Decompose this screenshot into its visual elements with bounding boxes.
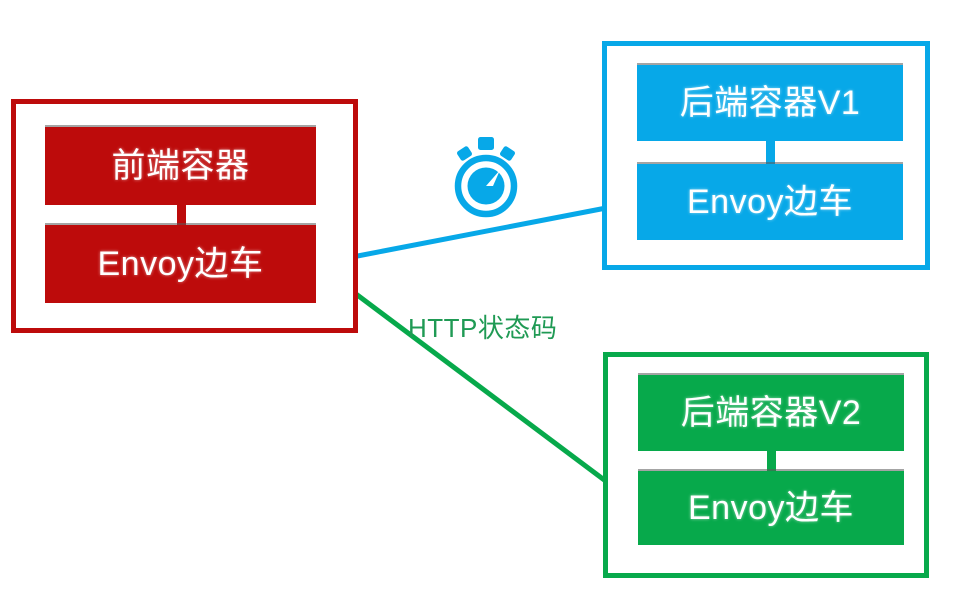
arrow-to-backend-v2 <box>316 264 631 500</box>
backend-envoy-v1-box[interactable]: Envoy边车 <box>637 164 903 240</box>
frontend-envoy-box[interactable]: Envoy边车 <box>45 225 316 303</box>
backend-container-v2-box[interactable]: 后端容器V2 <box>638 375 904 451</box>
frontend-envoy-label: Envoy边车 <box>98 247 264 281</box>
backend-envoy-v1-label: Envoy边车 <box>687 185 853 219</box>
frontend-container-box[interactable]: 前端容器 <box>45 127 316 205</box>
backend-container-v1-label: 后端容器V1 <box>680 86 861 120</box>
stopwatch-icon <box>448 136 524 218</box>
backend-container-v1-box[interactable]: 后端容器V1 <box>637 65 903 141</box>
frontend-container-label: 前端容器 <box>112 149 250 183</box>
backend-container-v2-label: 后端容器V2 <box>681 396 862 430</box>
diagram-canvas: 前端容器 Envoy边车 后端容器V1 Envoy边车 后端容器V2 Envoy… <box>0 0 957 594</box>
backend-envoy-v2-label: Envoy边车 <box>688 491 854 525</box>
backend-envoy-v2-box[interactable]: Envoy边车 <box>638 471 904 545</box>
http-status-code-label: HTTP状态码 <box>408 308 557 345</box>
